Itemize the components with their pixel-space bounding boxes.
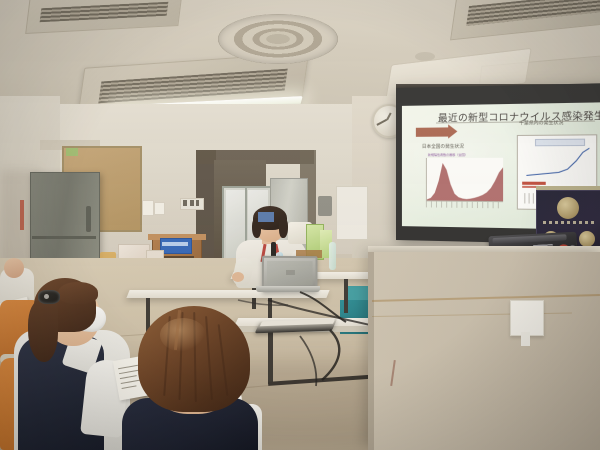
- poster-circle-icon: [579, 231, 595, 247]
- partition-counter: [368, 252, 600, 450]
- presenter-hand: [232, 272, 244, 282]
- air-diffuser-icon: [218, 14, 338, 64]
- attendee-masked-ponytail: [28, 300, 58, 362]
- cabinet-handle[interactable]: [86, 206, 91, 232]
- laptop-base: [256, 286, 320, 292]
- drink-bottle: [329, 242, 336, 270]
- chart-national-title: 日本全国の発生状況: [422, 144, 464, 150]
- attendee-masked-bangs: [58, 282, 98, 304]
- chart-national: 日本全国の発生状況 新規陽性者数の推移（全国）: [422, 143, 504, 211]
- epidemic-curve: [427, 158, 503, 201]
- pointer-arrow-icon: [416, 127, 450, 136]
- hair-clip-detail: [44, 294, 49, 299]
- counter-edge: [368, 252, 374, 450]
- chart-national-legend: 新規陽性者数の推移（全国）: [428, 153, 468, 157]
- blue-box-label: [162, 242, 188, 246]
- switch-icon[interactable]: [183, 200, 187, 206]
- cabinet-divider: [32, 236, 96, 239]
- wall-note-green: [66, 148, 78, 156]
- wall-marker-strip: [20, 200, 24, 230]
- laptop-logo: [286, 270, 295, 275]
- pointer-arrow-head-icon: [448, 124, 457, 138]
- poster-emblem-icon: [557, 197, 579, 219]
- wall-notice: [154, 202, 165, 215]
- meeting-room-photo: 最近の新型コロナウイルス感染発生状況 日本全国の発生状況 新規陽性者数の推移（全…: [0, 0, 600, 450]
- blue-item: [258, 212, 274, 222]
- blue-box: [160, 238, 192, 254]
- switch-icon[interactable]: [190, 200, 194, 206]
- wall-panel: [336, 186, 368, 240]
- hair-clip-icon: [38, 290, 60, 304]
- chart-national-plot: [426, 158, 503, 202]
- table-leg: [344, 279, 348, 313]
- chiba-recent-rise: [565, 167, 589, 180]
- table-leg: [268, 330, 273, 384]
- chiba-red-label: [522, 182, 546, 185]
- chart-national-xaxis: [426, 201, 502, 208]
- switch-icon[interactable]: [196, 200, 199, 206]
- label-holder[interactable]: [510, 300, 544, 336]
- wall-phone-icon[interactable]: [318, 196, 332, 216]
- wall-notice: [142, 200, 154, 216]
- label-tab: [521, 332, 530, 346]
- poster-text-line: [543, 221, 595, 224]
- projector-top: [492, 234, 566, 244]
- presenter-hair-side: [279, 218, 288, 238]
- attendee-foreground-hair-sheen: [160, 318, 206, 352]
- background-attendee-head: [4, 258, 24, 278]
- chart-chiba-title: 千葉県内の発生状況: [519, 120, 564, 127]
